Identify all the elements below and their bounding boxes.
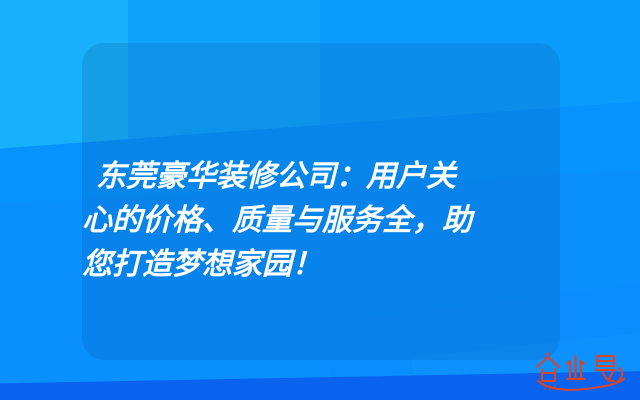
headline: 东莞豪华装修公司：用户关 心的价格、质量与服务全，助 您打造梦想家园！ <box>82 155 582 287</box>
qiyeyi-logo-caption: 企业易 <box>543 384 557 391</box>
qiyeyi-logo-icon: 企业易 <box>534 348 630 396</box>
qiyeyi-watermark-logo: 企业易 <box>534 348 630 396</box>
headline-line-2: 心的价格、质量与服务全，助 <box>82 199 582 243</box>
headline-line-3: 您打造梦想家园！ <box>82 243 582 287</box>
headline-line-1: 东莞豪华装修公司：用户关 <box>82 155 582 199</box>
promo-banner: 东莞豪华装修公司：用户关 心的价格、质量与服务全，助 您打造梦想家园！ <box>0 0 640 400</box>
